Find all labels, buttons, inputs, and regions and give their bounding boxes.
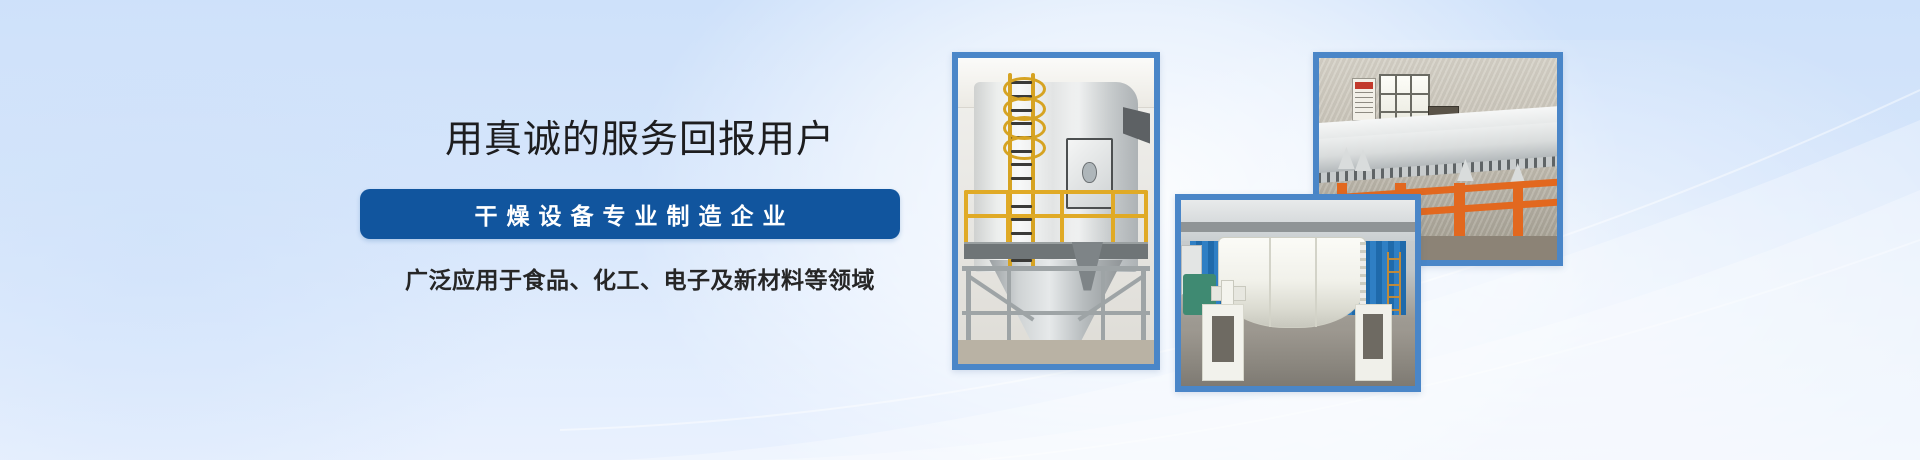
status-badge: 干燥设备专业制造企业 (360, 189, 900, 239)
headline-block: 用真诚的服务回报用户 干燥设备专业制造企业 广泛应用于食品、化工、电子及新材料等… (360, 118, 920, 295)
page-title: 用真诚的服务回报用户 (360, 118, 920, 163)
subtitle-text: 广泛应用于食品、化工、电子及新材料等领域 (360, 261, 920, 295)
photo-spray-dryer-image (958, 58, 1154, 364)
photo-ribbon-mixer-image (1181, 200, 1415, 386)
photo-spray-dryer[interactable] (952, 52, 1160, 370)
photo-ribbon-mixer[interactable] (1175, 194, 1421, 392)
hero-banner: 用真诚的服务回报用户 干燥设备专业制造企业 广泛应用于食品、化工、电子及新材料等… (0, 0, 1920, 460)
